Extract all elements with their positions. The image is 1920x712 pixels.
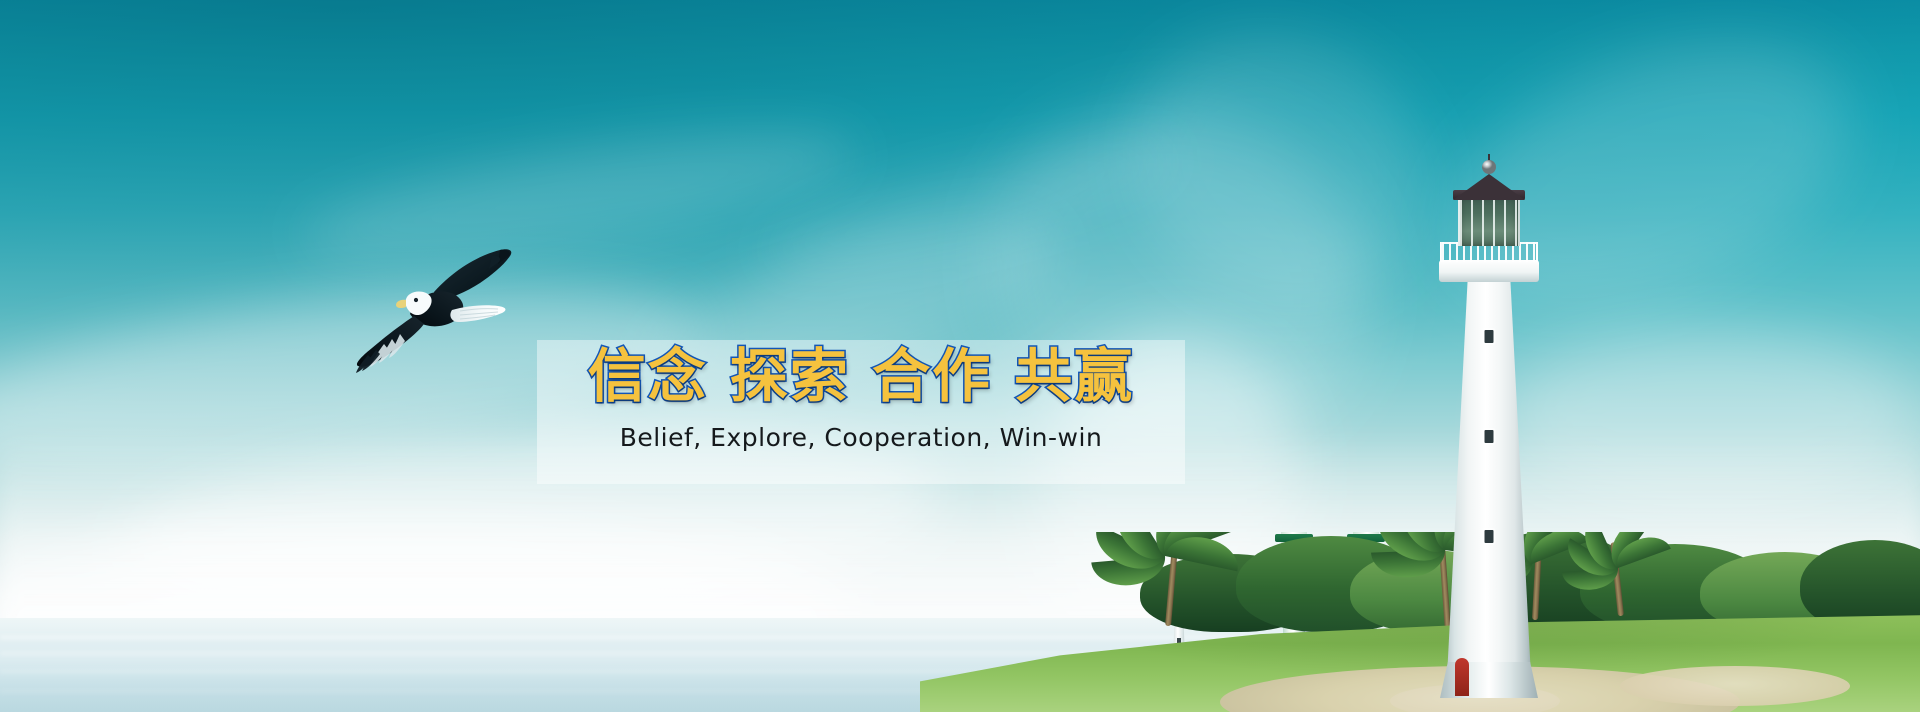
banner-hero: 信念 探索 合作 共赢 Belief, Explore, Cooperation…: [0, 0, 1920, 712]
eagle-icon: [348, 244, 518, 374]
lighthouse-door: [1455, 658, 1469, 696]
lighthouse: [1434, 176, 1544, 696]
page-subtitle: Belief, Explore, Cooperation, Win-win: [620, 423, 1103, 452]
slogan-panel: 信念 探索 合作 共赢 Belief, Explore, Cooperation…: [537, 340, 1185, 484]
lighthouse-window: [1485, 530, 1494, 543]
lighthouse-finial: [1482, 160, 1496, 174]
sand-bunker: [1620, 666, 1850, 706]
lighthouse-lantern-room: [1458, 196, 1520, 246]
eagle-eye: [414, 298, 418, 302]
lighthouse-roof: [1453, 174, 1525, 200]
page-title: 信念 探索 合作 共赢: [588, 346, 1135, 407]
palm-tree: [1610, 542, 1626, 616]
eagle-beak: [396, 300, 406, 308]
lighthouse-window: [1485, 430, 1494, 443]
lighthouse-gallery: [1439, 260, 1539, 282]
lighthouse-window: [1485, 330, 1494, 343]
island: [920, 532, 1920, 712]
palm-tree: [1156, 532, 1174, 626]
